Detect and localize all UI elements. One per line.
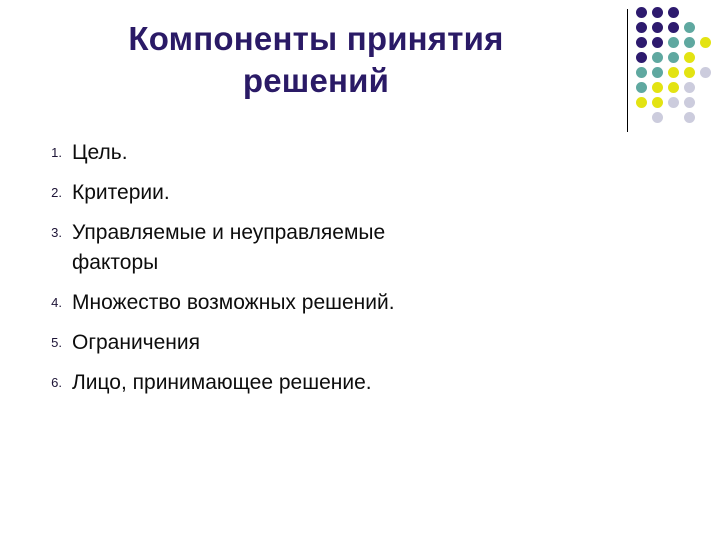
decorative-dot — [636, 82, 647, 93]
list-item-text: Множество возможных решений. — [72, 288, 598, 318]
decorative-dot — [668, 97, 679, 108]
decorative-dot — [636, 37, 647, 48]
decorative-dot — [636, 67, 647, 78]
list-item: 2.Критерии. — [28, 178, 598, 208]
list-item-text: Лицо, принимающее решение. — [72, 368, 598, 398]
page-title: Компоненты принятия решений — [36, 18, 596, 102]
list-item-text: Управляемые и неуправляемые факторы — [72, 218, 598, 278]
decorative-dot — [652, 7, 663, 18]
decorative-dot — [636, 7, 647, 18]
decorative-dot — [684, 112, 695, 123]
list-item-number: 3. — [28, 218, 72, 248]
decorative-dot — [636, 22, 647, 33]
decorative-dot — [684, 67, 695, 78]
decorative-dot — [652, 67, 663, 78]
decorative-dot — [652, 37, 663, 48]
list-item: 1.Цель. — [28, 138, 598, 168]
decorative-dot — [636, 52, 647, 63]
decorative-dot — [684, 22, 695, 33]
decorative-dot — [684, 82, 695, 93]
decorative-dot — [668, 67, 679, 78]
list-item-number: 2. — [28, 178, 72, 208]
decorative-dot — [652, 22, 663, 33]
decorative-dot — [684, 97, 695, 108]
decorative-dot-motif — [620, 4, 720, 134]
decorative-dot — [652, 52, 663, 63]
slide-canvas: Компоненты принятия решений 1.Цель.2.Кри… — [0, 0, 720, 540]
decorative-dot — [636, 97, 647, 108]
decorative-dot — [652, 82, 663, 93]
decorative-dot — [700, 37, 711, 48]
title-block: Компоненты принятия решений — [36, 18, 596, 102]
list-item-text: Ограничения — [72, 328, 598, 358]
vertical-divider-line — [627, 9, 628, 132]
decorative-dot — [652, 97, 663, 108]
list-item: 6.Лицо, принимающее решение. — [28, 368, 598, 398]
list-item: 3.Управляемые и неуправляемые факторы — [28, 218, 598, 278]
decorative-dot — [668, 22, 679, 33]
decorative-dot — [652, 112, 663, 123]
decorative-dot — [668, 7, 679, 18]
list-item-number: 5. — [28, 328, 72, 358]
list-item-number: 6. — [28, 368, 72, 398]
decorative-dot — [684, 37, 695, 48]
list-item-number: 1. — [28, 138, 72, 168]
decorative-dot — [668, 82, 679, 93]
list-item-text: Критерии. — [72, 178, 598, 208]
content-list: 1.Цель.2.Критерии.3.Управляемые и неупра… — [28, 138, 598, 408]
list-item: 4.Множество возможных решений. — [28, 288, 598, 318]
decorative-dot — [700, 67, 711, 78]
list-item-number: 4. — [28, 288, 72, 318]
decorative-dot — [668, 52, 679, 63]
dot-grid — [636, 7, 720, 131]
decorative-dot — [684, 52, 695, 63]
decorative-dot — [668, 37, 679, 48]
list-item: 5.Ограничения — [28, 328, 598, 358]
list-item-text: Цель. — [72, 138, 598, 168]
